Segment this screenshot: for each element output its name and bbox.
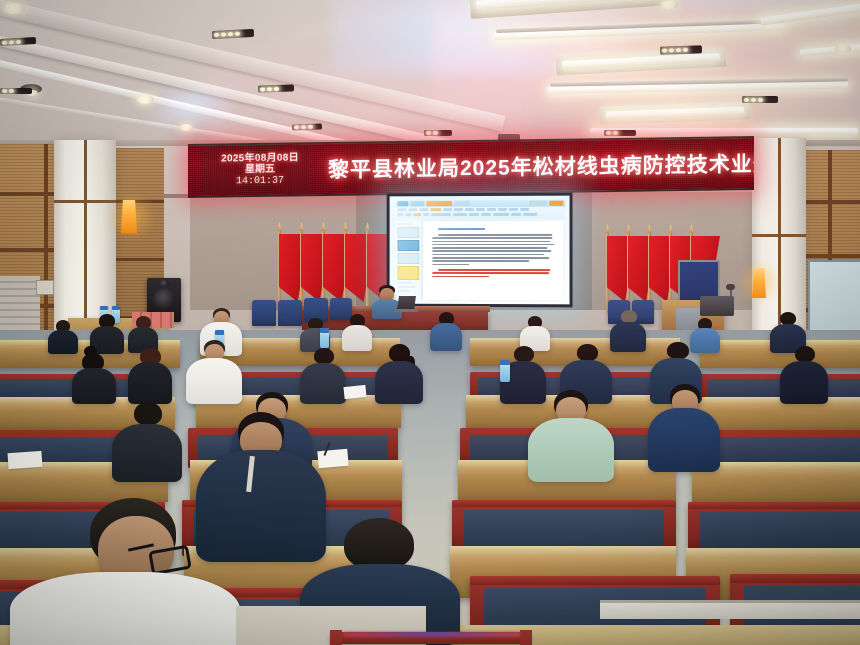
audience-floor	[0, 330, 860, 645]
person-torso	[648, 408, 720, 472]
document-heading	[438, 228, 485, 230]
audience-person	[430, 312, 462, 350]
desk-panel-foreground-right	[600, 600, 860, 619]
person-torso	[342, 325, 372, 351]
bench-leg	[520, 630, 532, 645]
conference-room-photo: 2025年08月08日 星期五 14:01:37 黎平县林业局2025年松材线虫…	[0, 0, 860, 645]
audience-person	[648, 384, 720, 472]
bench-rail-highlight	[344, 632, 520, 637]
flag-pole-tip	[668, 224, 673, 233]
led-banner-datetime: 2025年08月08日 星期五 14:01:37	[188, 152, 326, 187]
stage-equipment-right	[700, 296, 734, 316]
document-line	[432, 237, 552, 239]
audience-person	[128, 348, 172, 404]
column-right	[752, 138, 806, 340]
audience-person-ponytail	[375, 344, 423, 404]
app-account-badge[interactable]	[549, 201, 563, 206]
led-strip-fixture	[660, 45, 702, 54]
stage-chair	[278, 300, 302, 326]
downlight	[180, 124, 193, 131]
ceiling	[0, 0, 860, 150]
app-tab-document[interactable]	[426, 201, 452, 206]
document-line	[432, 257, 549, 259]
person-torso	[780, 361, 828, 404]
audience-person-bun	[72, 352, 116, 404]
wall-sconce-left	[121, 200, 137, 233]
person-torso	[430, 323, 462, 351]
led-strip-fixture	[212, 29, 254, 39]
app-ribbon	[396, 207, 566, 219]
audience-person	[48, 320, 78, 354]
app-ribbon-buttons	[398, 213, 564, 216]
audience-person-foreground-white-tee	[10, 498, 240, 645]
wall-outlet-left	[36, 280, 54, 295]
app-tab[interactable]	[410, 201, 424, 206]
led-strip-fixture	[292, 123, 322, 130]
downlight	[3, 3, 25, 14]
audience-person	[780, 346, 828, 404]
led-banner-title: 黎平县林业局2025年松材线虫病防控技术业务培训会议	[326, 147, 754, 184]
bench-backrest-pad	[704, 437, 860, 464]
flag-pole-tip	[343, 222, 348, 231]
flag-pole-tip	[277, 222, 282, 231]
led-banner-time: 14:01:37	[194, 175, 326, 188]
desk-row	[698, 402, 860, 430]
stage-chair	[252, 300, 276, 326]
document-line	[432, 244, 554, 246]
pane-line	[398, 223, 414, 225]
downlight	[835, 44, 851, 53]
audience-person	[610, 310, 646, 352]
bench-backrest-pad	[700, 512, 860, 550]
flag-pole-tip	[689, 224, 694, 233]
flag-pole-tip	[647, 224, 652, 233]
led-strip-fixture	[258, 84, 294, 92]
notebook-paper	[343, 385, 366, 399]
document-line	[432, 250, 551, 252]
projection-screen-surface	[390, 196, 570, 305]
pane-note-card[interactable]	[398, 266, 420, 280]
document-line	[438, 234, 552, 236]
document-line	[432, 254, 544, 256]
person-torso	[128, 362, 172, 404]
presenter-laptop-base	[394, 309, 418, 312]
document-line	[432, 241, 550, 243]
pane-line	[398, 282, 412, 284]
person-hair	[667, 342, 689, 359]
water-bottle	[500, 360, 510, 382]
flag-pole-tip	[321, 222, 326, 231]
app-window-controls[interactable]	[529, 201, 547, 206]
person-torso	[48, 330, 78, 354]
wall-sconce-right	[752, 268, 766, 298]
bench-rail	[688, 502, 860, 509]
document-line	[432, 260, 529, 262]
projection-screen	[387, 193, 573, 308]
bench-rail	[470, 576, 720, 585]
person-torso	[72, 368, 116, 404]
desk-top	[698, 397, 860, 403]
presenter-laptop	[397, 296, 416, 310]
person-torso	[528, 418, 614, 482]
downlight	[660, 0, 678, 9]
paper-on-desk	[7, 451, 42, 469]
person-hair	[514, 346, 534, 362]
app-tab[interactable]	[454, 201, 470, 206]
page-thumbnail[interactable]	[398, 227, 420, 238]
desk-row	[692, 468, 860, 502]
bench-backrest-pad	[464, 510, 664, 548]
flag-pole-tip	[626, 224, 631, 233]
document-line-highlighted	[432, 272, 549, 274]
person-hair	[314, 348, 334, 364]
person-hair	[577, 344, 598, 361]
bench-rail	[730, 574, 860, 583]
page-thumbnail[interactable]	[398, 253, 420, 264]
flag-pole-tip	[365, 222, 370, 231]
led-strip-fixture	[742, 96, 778, 103]
person-hair	[344, 518, 414, 570]
bench-leg	[330, 630, 342, 645]
app-ribbon-tabs	[398, 208, 564, 211]
page-thumbnail-selected[interactable]	[398, 240, 420, 251]
document-line-highlighted	[432, 276, 489, 278]
led-banner: 2025年08月08日 星期五 14:01:37 黎平县林业局2025年松材线虫…	[188, 136, 754, 198]
led-strip-fixture	[0, 88, 32, 94]
audience-person	[520, 316, 550, 350]
audience-person-mint-shirt	[528, 390, 614, 482]
audience-person	[112, 402, 182, 482]
desk-top	[470, 338, 680, 343]
audience-person	[128, 316, 158, 352]
document-page	[423, 221, 563, 300]
led-strip-fixture	[424, 130, 452, 136]
flag-pole-tip	[605, 224, 610, 233]
person-torso	[112, 424, 182, 482]
led-strip-fixture	[604, 130, 636, 136]
person-hair	[795, 346, 815, 362]
desk-top	[450, 546, 676, 555]
document-line-highlighted	[438, 269, 550, 271]
bench-rail	[452, 500, 676, 507]
person-torso	[10, 572, 240, 645]
person-torso	[375, 361, 423, 404]
person-torso	[610, 322, 646, 352]
app-tab[interactable]	[398, 201, 409, 206]
ceiling-blue-light-wash	[150, 85, 230, 130]
flag-pole-tip	[299, 222, 304, 231]
document-line	[432, 263, 469, 265]
downlight	[136, 95, 154, 104]
person-hair	[134, 402, 162, 425]
audience-person	[342, 314, 372, 350]
desk-top	[686, 548, 860, 557]
podium-microphone-head	[726, 284, 735, 290]
document-line	[432, 247, 547, 249]
water-bottle	[320, 328, 329, 348]
